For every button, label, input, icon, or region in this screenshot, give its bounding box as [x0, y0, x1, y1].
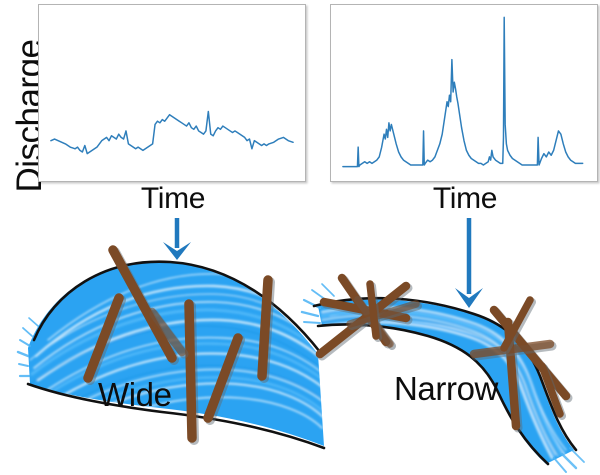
x-axis-label-wide: Time	[108, 182, 238, 216]
chart-panel-wide	[38, 4, 306, 182]
hydrograph-wide-plot	[39, 5, 305, 181]
log	[262, 280, 270, 378]
x-axis-label-narrow: Time	[400, 182, 530, 216]
river-wide-svg	[18, 228, 330, 475]
figure-root: Discharge Time Time	[0, 0, 600, 475]
caption-narrow: Narrow	[394, 370, 498, 408]
caption-wide: Wide	[98, 376, 172, 414]
river-narrow-svg	[300, 228, 600, 475]
hydrograph-wide-line	[51, 111, 293, 153]
log	[189, 304, 194, 440]
hydrograph-narrow-line	[343, 17, 583, 166]
chart-panel-narrow	[330, 4, 598, 182]
hydrograph-narrow-plot	[331, 5, 597, 181]
log	[370, 284, 378, 338]
river-illustration-narrow	[300, 228, 600, 475]
river-illustration-wide	[18, 228, 330, 475]
